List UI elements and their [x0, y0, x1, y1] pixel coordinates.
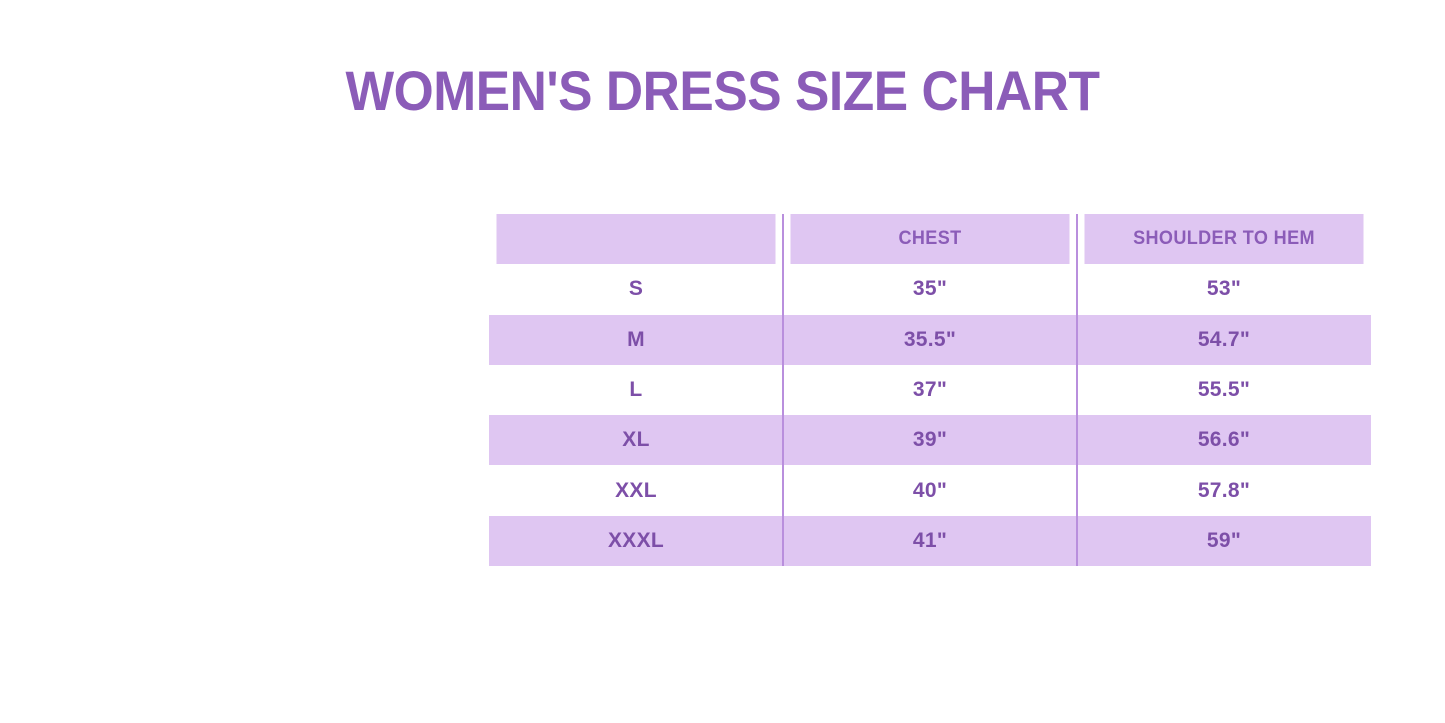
cell-chest: 35" [783, 264, 1077, 314]
cell-chest: 41" [783, 516, 1077, 566]
cell-size: XXL [489, 465, 783, 515]
cell-shoulder-to-hem: 57.8" [1077, 465, 1371, 515]
column-header-chest: CHEST [790, 214, 1069, 264]
page-title: WOMEN'S DRESS SIZE CHART [58, 56, 1387, 126]
cell-size: XL [489, 415, 783, 465]
table-row: L 37" 55.5" [489, 365, 1371, 415]
table-row: XL 39" 56.6" [489, 415, 1371, 465]
size-chart-table-container: CHEST SHOULDER TO HEM S 35" 53" M 35.5" … [489, 214, 1371, 566]
table-header: CHEST SHOULDER TO HEM [489, 214, 1371, 264]
cell-chest: 37" [783, 365, 1077, 415]
cell-shoulder-to-hem: 54.7" [1077, 315, 1371, 365]
size-chart-page: WOMEN'S DRESS SIZE CHART CHEST SHOULDER … [0, 0, 1445, 723]
cell-shoulder-to-hem: 56.6" [1077, 415, 1371, 465]
table-row: M 35.5" 54.7" [489, 315, 1371, 365]
table-row: S 35" 53" [489, 264, 1371, 314]
column-header-size [496, 214, 775, 264]
cell-shoulder-to-hem: 53" [1077, 264, 1371, 314]
cell-shoulder-to-hem: 55.5" [1077, 365, 1371, 415]
column-header-shoulder-to-hem: SHOULDER TO HEM [1084, 214, 1363, 264]
table-body: S 35" 53" M 35.5" 54.7" L 37" 55.5" XL 3… [489, 264, 1371, 566]
table-row: XXL 40" 57.8" [489, 465, 1371, 515]
table-row: XXXL 41" 59" [489, 516, 1371, 566]
cell-chest: 39" [783, 415, 1077, 465]
table-header-row: CHEST SHOULDER TO HEM [489, 214, 1371, 264]
cell-size: L [489, 365, 783, 415]
size-chart-table: CHEST SHOULDER TO HEM S 35" 53" M 35.5" … [489, 214, 1371, 566]
cell-size: XXXL [489, 516, 783, 566]
cell-chest: 40" [783, 465, 1077, 515]
cell-size: M [489, 315, 783, 365]
cell-chest: 35.5" [783, 315, 1077, 365]
cell-size: S [489, 264, 783, 314]
cell-shoulder-to-hem: 59" [1077, 516, 1371, 566]
